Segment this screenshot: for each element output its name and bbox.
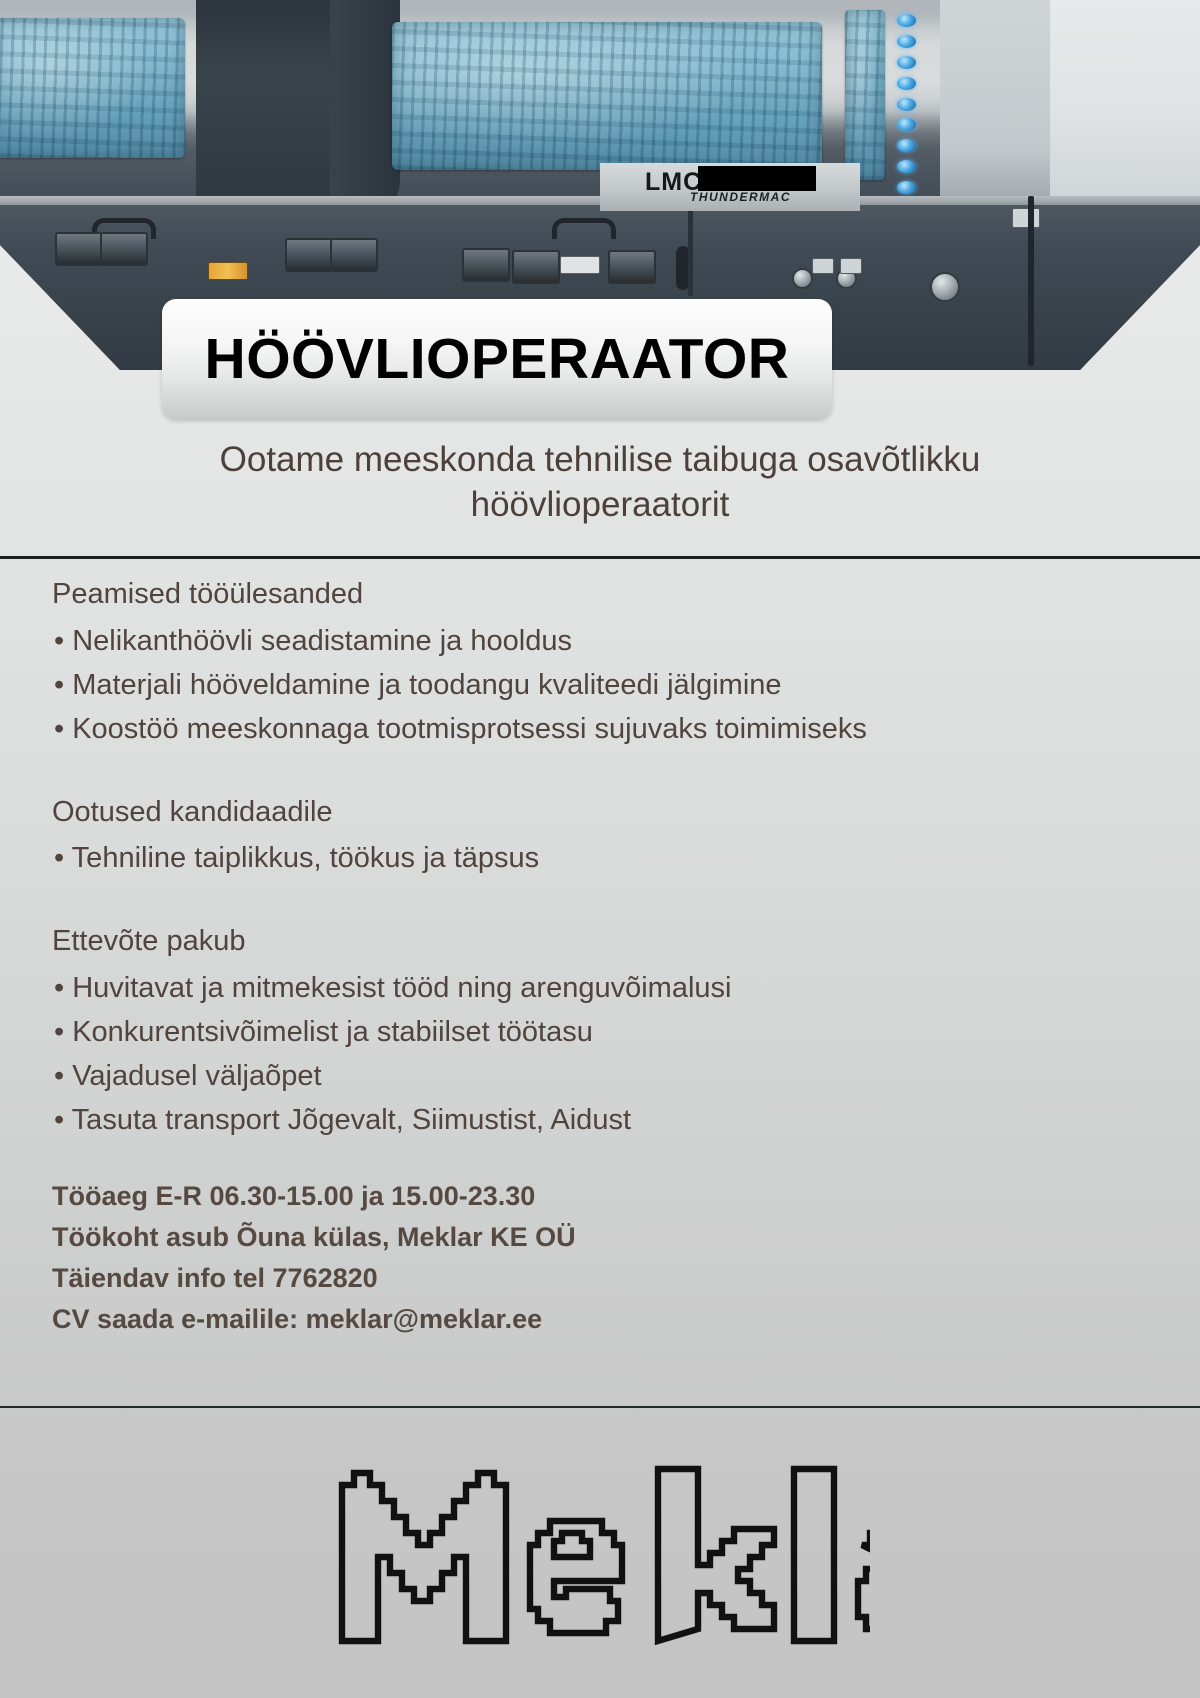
list-item: • Materjali hööveldamine ja toodangu kva… bbox=[52, 663, 1152, 707]
spacer bbox=[52, 880, 1152, 920]
section-tasks: Peamised tööülesanded • Nelikanthöövli s… bbox=[52, 573, 1152, 751]
machine-dial bbox=[930, 272, 960, 302]
led-indicator bbox=[897, 118, 916, 131]
machine-vent bbox=[55, 232, 103, 266]
page-title: HÖÖVLIOPERAATOR bbox=[205, 331, 790, 388]
contact-phone[interactable]: Täiendav info tel 7762820 bbox=[52, 1258, 1152, 1299]
machine-window-right bbox=[845, 10, 885, 180]
machine-cable bbox=[1028, 196, 1034, 366]
machine-vent bbox=[608, 250, 656, 284]
list-item: • Konkurentsivõimelist ja stabiilset töö… bbox=[52, 1010, 1152, 1054]
list-item: • Nelikanthöövli seadistamine ja hooldus bbox=[52, 619, 1152, 663]
machine-label-plate bbox=[560, 256, 600, 274]
led-indicator bbox=[897, 14, 916, 27]
machine-handle bbox=[552, 218, 616, 239]
list-item: • Tasuta transport Jõgevalt, Siimustist,… bbox=[52, 1098, 1152, 1142]
job-body: Peamised tööülesanded • Nelikanthöövli s… bbox=[52, 573, 1152, 1340]
section-heading: Ootused kandidaadile bbox=[52, 791, 1152, 835]
work-hours: Tööaeg E-R 06.30-15.00 ja 15.00-23.30 bbox=[52, 1176, 1152, 1217]
led-indicator bbox=[897, 56, 916, 69]
led-indicator bbox=[897, 139, 916, 152]
machine-vent bbox=[100, 232, 148, 266]
spacer bbox=[52, 751, 1152, 791]
list-item: • Tehniline taiplikkus, töökus ja täpsus bbox=[52, 836, 1152, 880]
led-indicator bbox=[897, 77, 916, 90]
machine-cable bbox=[688, 206, 693, 296]
redaction-bar bbox=[698, 166, 816, 191]
led-indicator bbox=[897, 35, 916, 48]
machine-vent bbox=[330, 238, 378, 272]
job-title-badge: HÖÖVLIOPERAATOR bbox=[162, 299, 832, 419]
led-indicator bbox=[897, 181, 916, 194]
machine-vent bbox=[285, 238, 333, 272]
machine-knob bbox=[792, 268, 813, 289]
job-subtitle: Ootame meeskonda tehnilise taibuga osavõ… bbox=[100, 438, 1100, 528]
list-item: • Huvitavat ja mitmekesist tööd ning are… bbox=[52, 966, 1152, 1010]
list-item: • Vajadusel väljaõpet bbox=[52, 1054, 1152, 1098]
contact-email[interactable]: CV saada e-mailile: meklar@meklar.ee bbox=[52, 1299, 1152, 1340]
company-logo bbox=[0, 1408, 1200, 1698]
contact-block: Tööaeg E-R 06.30-15.00 ja 15.00-23.30 Tö… bbox=[52, 1176, 1152, 1340]
machine-vent bbox=[462, 248, 510, 282]
machine-warning-sticker bbox=[208, 262, 248, 280]
job-poster: LMC THUNDERMAC HÖÖVLIOPERAATOR Ootame me… bbox=[0, 0, 1200, 1698]
section-heading: Peamised tööülesanded bbox=[52, 573, 1152, 617]
divider-top bbox=[0, 556, 1200, 559]
led-indicator bbox=[897, 98, 916, 111]
section-offer: Ettevõte pakub • Huvitavat ja mitmekesis… bbox=[52, 920, 1152, 1142]
machine-window-left bbox=[0, 18, 185, 158]
machine-hood-secondary bbox=[330, 0, 400, 220]
list-item: • Koostöö meeskonnaga tootmisprotsessi s… bbox=[52, 707, 1152, 751]
machine-vent bbox=[512, 250, 560, 284]
work-location: Töökoht asub Õuna külas, Meklar KE OÜ bbox=[52, 1217, 1152, 1258]
section-heading: Ettevõte pakub bbox=[52, 920, 1152, 964]
machine-button bbox=[812, 258, 834, 274]
machine-model-label: THUNDERMAC bbox=[690, 190, 791, 204]
meklar-wordmark-icon bbox=[330, 1453, 870, 1653]
machine-button bbox=[1012, 208, 1040, 228]
section-expectations: Ootused kandidaadile • Tehniline taiplik… bbox=[52, 791, 1152, 881]
machine-window-center bbox=[392, 22, 822, 170]
machine-led-column bbox=[893, 14, 919, 194]
machine-button bbox=[840, 258, 862, 274]
led-indicator bbox=[897, 160, 916, 173]
